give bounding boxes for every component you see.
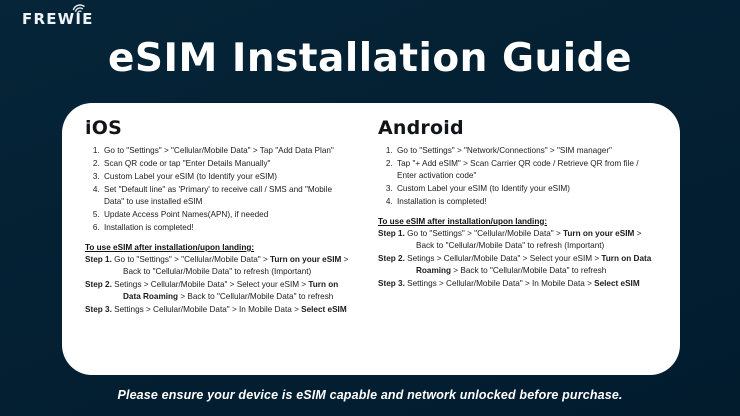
list-item: Update Access Point Names(APN), if neede… [102,209,350,221]
step-prefix: Settings > Cellular/Mobile Data" > In Mo… [405,279,594,288]
ios-after-step: Step 3. Settings > Cellular/Mobile Data"… [85,304,350,316]
list-item: Tap "+ Add eSIM" > Scan Carrier QR code … [395,158,660,181]
android-after-step: Step 3. Settings > Cellular/Mobile Data"… [378,278,660,290]
wifi-icon [72,2,86,14]
slide-background: FREWIE eSIM Installation Guide iOS Go to… [0,0,740,416]
list-item: Custom Label your eSIM (to Identify your… [395,183,660,195]
step-label: Step 2. [85,280,112,289]
list-item: Scan QR code or tap "Enter Details Manua… [102,158,350,170]
step-emphasis: Select eSIM [301,305,347,314]
step-emphasis: Select eSIM [594,279,640,288]
list-item: Installation is completed! [395,196,660,208]
list-item: Set "Default line" as 'Primary' to recei… [102,184,350,207]
step-label: Step 3. [85,305,112,314]
android-steps-list: Go to "Settings" > "Network/Connections"… [378,145,660,208]
ios-column: iOS Go to "Settings" > "Cellular/Mobile … [62,117,362,375]
list-item: Custom Label your eSIM (to Identify your… [102,171,350,183]
step-prefix: Settings > Cellular/Mobile Data" > In Mo… [112,305,301,314]
ios-after-step: Step 2. Setings > Cellular/Mobile Data" … [85,279,350,303]
brand-logo: FREWIE [22,12,94,27]
step-prefix: Setings > Cellular/Mobile Data" > Select… [112,280,309,289]
instructions-card: iOS Go to "Settings" > "Cellular/Mobile … [62,103,680,375]
step-label: Step 1. [378,229,405,238]
ios-after-step: Step 1. Go to "Settings" > "Cellular/Mob… [85,254,350,278]
step-suffix: > Back to "Cellular/Mobile Data" to refr… [178,292,333,301]
step-prefix: Setings > Cellular/Mobile Data" > Select… [405,254,602,263]
step-prefix: Go to "Settings" > "Cellular/Mobile Data… [112,255,270,264]
step-label: Step 3. [378,279,405,288]
android-after-step: Step 2. Setings > Cellular/Mobile Data" … [378,253,660,277]
android-heading: Android [378,117,660,139]
page-title: eSIM Installation Guide [0,38,740,81]
list-item: Installation is completed! [102,222,350,234]
list-item: Go to "Settings" > "Network/Connections"… [395,145,660,157]
list-item: Go to "Settings" > "Cellular/Mobile Data… [102,145,350,157]
ios-steps-list: Go to "Settings" > "Cellular/Mobile Data… [85,145,350,234]
step-prefix: Go to "Settings" > "Cellular/Mobile Data… [405,229,563,238]
step-emphasis: Turn on your eSIM [270,255,341,264]
brand-name: FREWIE [22,12,94,27]
android-after-install-title: To use eSIM after installation/upon land… [378,217,660,226]
step-emphasis: Turn on your eSIM [563,229,634,238]
footer-note: Please ensure your device is eSIM capabl… [0,388,740,402]
ios-after-install-title: To use eSIM after installation/upon land… [85,243,350,252]
step-suffix: > Back to "Cellular/Mobile Data" to refr… [451,266,606,275]
android-column: Android Go to "Settings" > "Network/Conn… [362,117,680,375]
step-label: Step 1. [85,255,112,264]
step-label: Step 2. [378,254,405,263]
ios-heading: iOS [85,117,350,139]
android-after-step: Step 1. Go to "Settings" > "Cellular/Mob… [378,228,660,252]
